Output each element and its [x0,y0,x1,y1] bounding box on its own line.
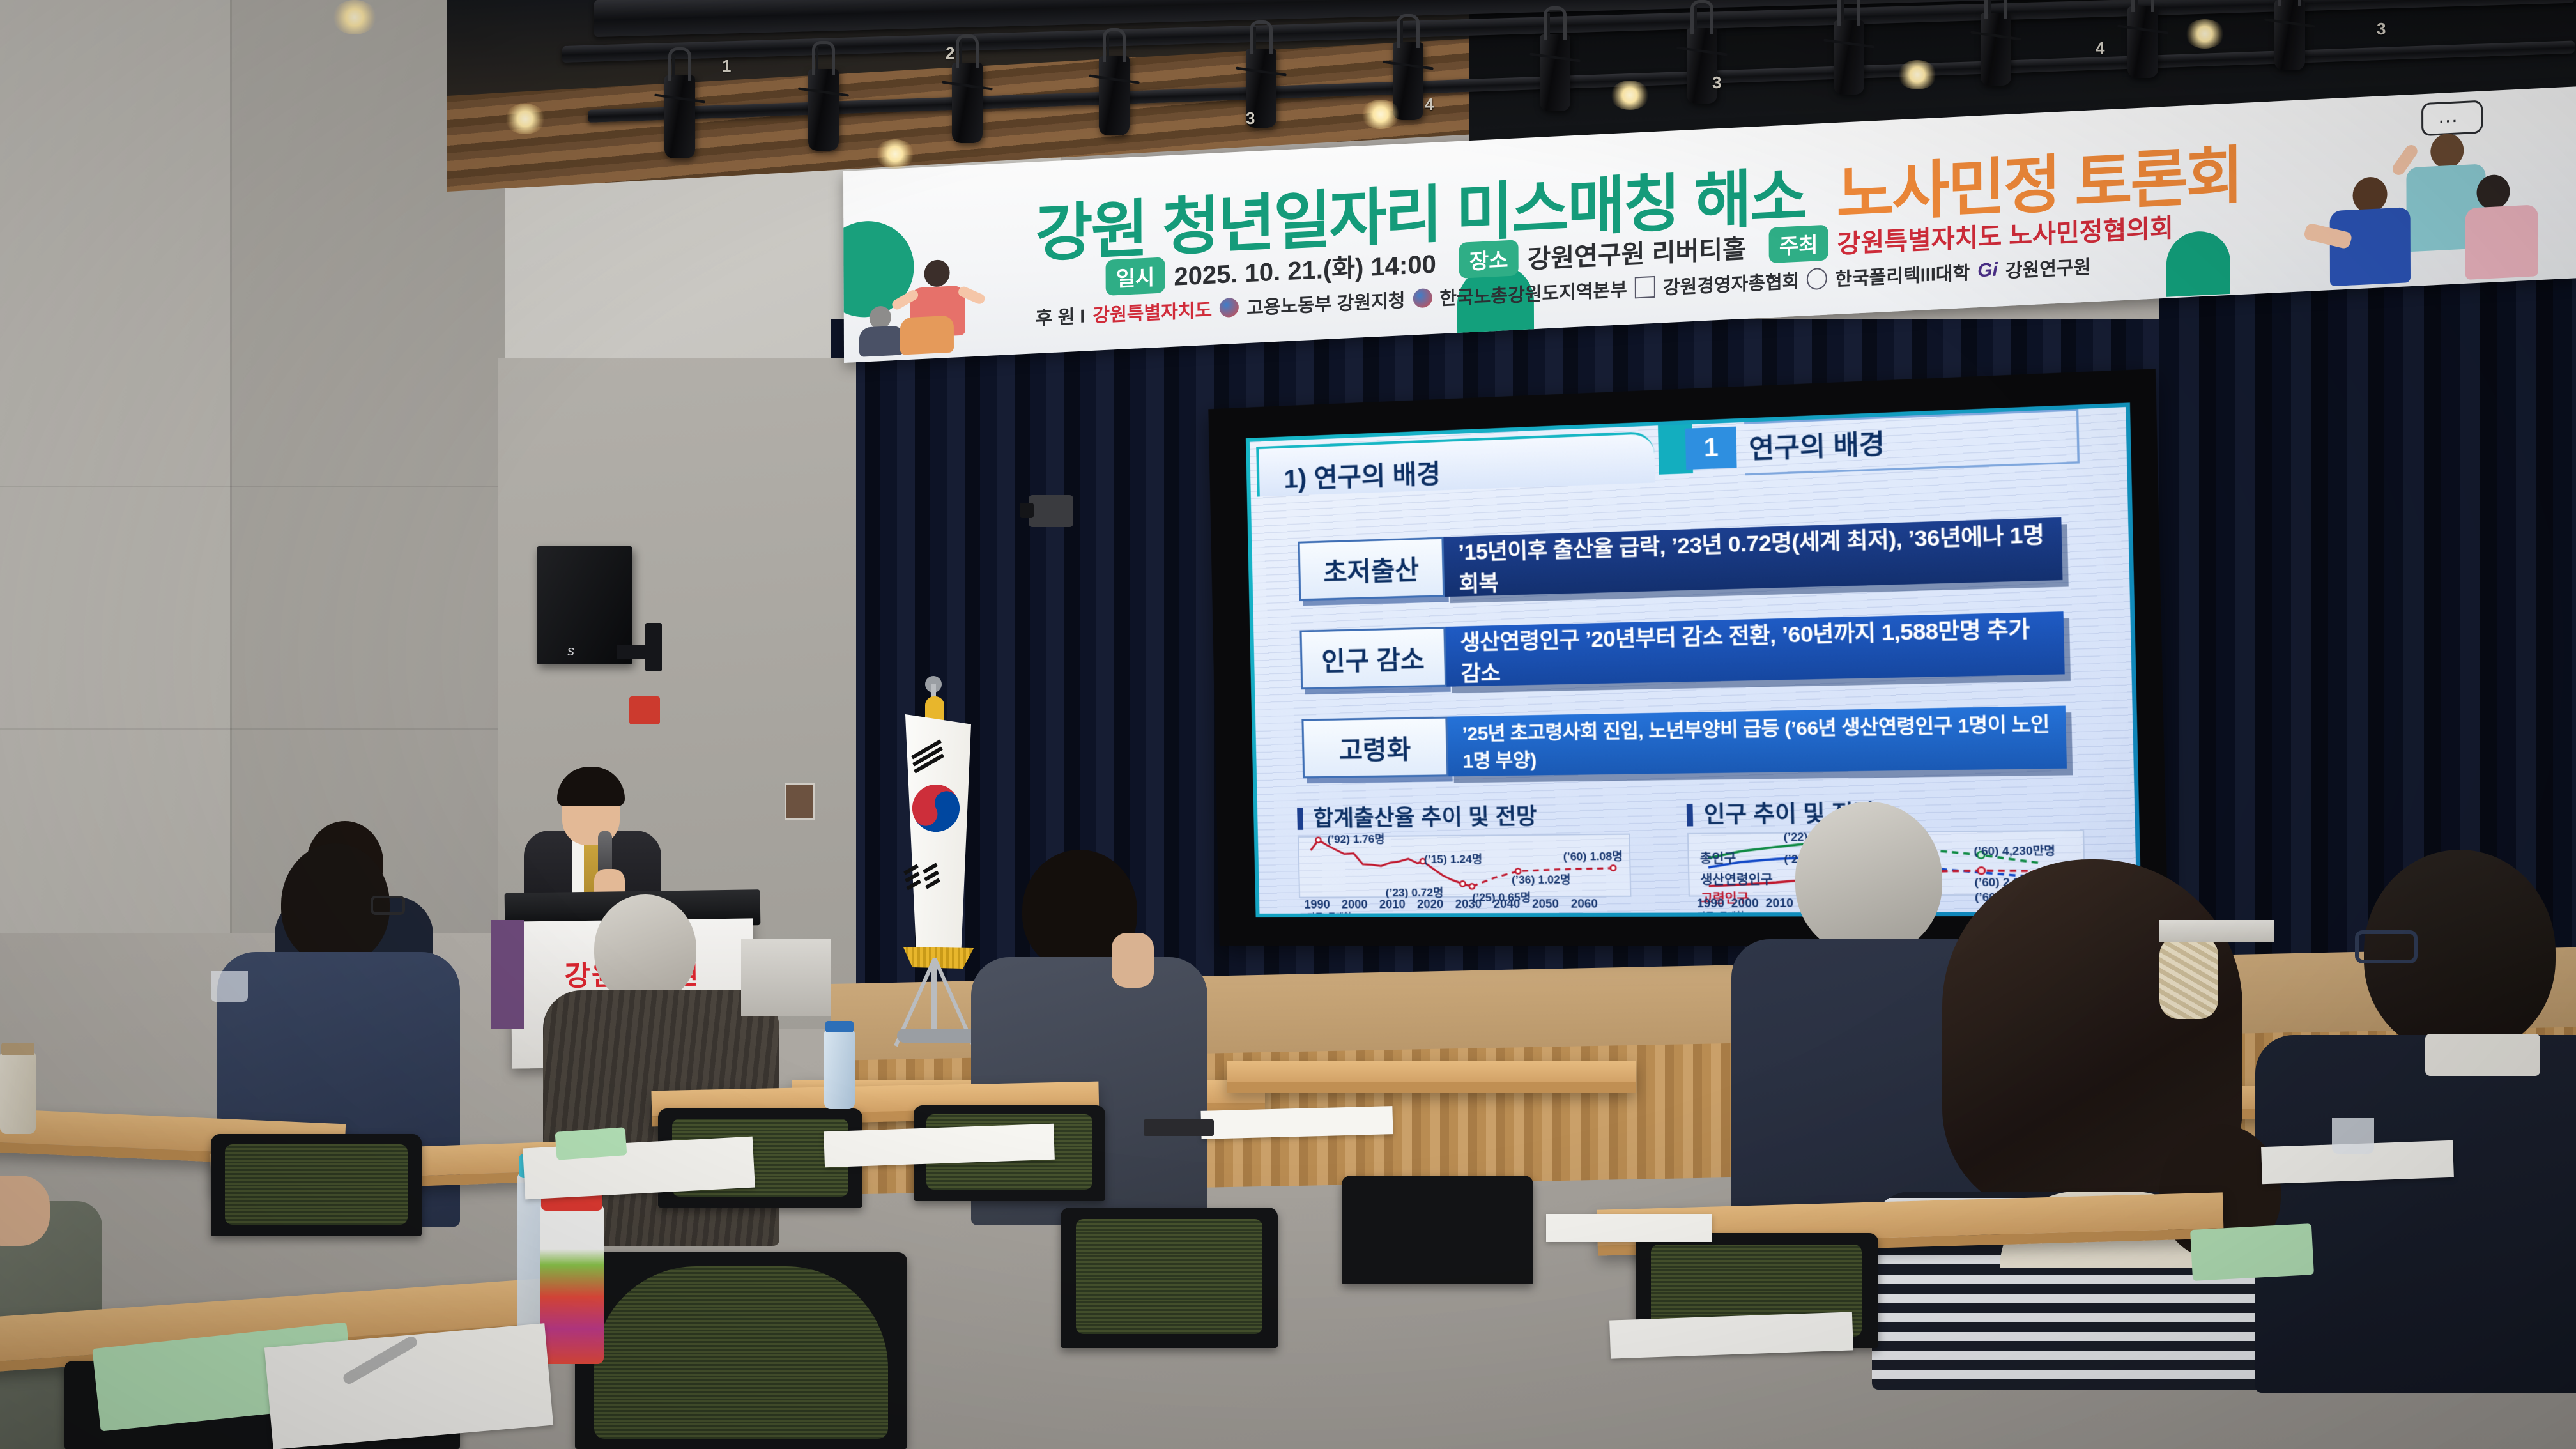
chart-xtick-tfr: 2010 [1379,898,1406,911]
audience-chair [575,1252,907,1449]
wall-seam [230,0,232,933]
ceiling-downlight [1361,100,1400,129]
truss-channel-number: 4 [1425,95,1434,114]
audience-chair [1061,1207,1278,1348]
truss-channel-number: 4 [2096,38,2104,58]
chart-annotation-tfr: (’36) 1.02명 [1512,870,1571,887]
sponsor-gangwon-institute: 강원연구원 [2005,252,2091,284]
eyeglasses-icon [371,896,405,915]
chart-title-tfr: 합계출산율 추이 및 전망 [1297,806,1537,830]
stage-spotlight [1540,34,1570,111]
wall-picture-frame [785,783,815,820]
ceiling-downlight [1897,60,1937,89]
sponsor-gangwon-province: 강원특별자치도 [1092,295,1212,328]
truss-channel-number: 3 [1246,109,1255,128]
banner-host-pill: 주최 [1769,225,1828,264]
chart-annotation-tfr: (’60) 1.08명 [1563,847,1623,863]
conference-hall-photo: 1 2 3 4 3 4 3 ··· [0,0,2576,1449]
hair-clip [2159,936,2218,1019]
speaker-mount-plate [645,623,662,671]
stage-spotlight [1099,56,1130,135]
sponsor-kef-gangwon: 강원경영자총협회 [1663,266,1800,300]
podium-purple-drape [491,920,524,1029]
disposable-cup [2332,1118,2374,1154]
wall-seam [0,486,505,487]
left-wall-lit-panel [0,0,230,933]
chart-annotation-tfr: (’92) 1.76명 [1327,830,1384,847]
slide-key-bar-tag: 고령화 [1301,717,1448,779]
wall-seam [0,728,505,730]
audience-chair [211,1134,422,1236]
truss-channel-number: 3 [2377,19,2386,39]
slide-key-bar: 초저출산 ’15년이후 출산율 급락, ’23년 0.72명(세계 최저), ’… [1298,517,2063,601]
truss-channel-number: 3 [1712,73,1721,93]
name-plate [1144,1119,1214,1136]
sponsor-polytech: 한국폴리텍III대학 [1835,258,1970,291]
handout-papers [1546,1214,1712,1242]
sponsor-moel-gangwon: 고용노동부 강원지청 [1246,286,1405,320]
fire-alarm-bell [629,696,660,724]
projection-screen: 1) 연구의 배경 1 연구의 배경 초저출산 ’15년이후 출산율 급락, ’… [1208,369,2168,946]
stage-spotlight [2127,6,2158,78]
chart-series-label-working: 생산연령인구 [1700,870,1773,888]
handout-papers [1200,1106,1393,1139]
screen-teal-border: 1) 연구의 배경 1 연구의 배경 초저출산 ’15년이후 출산율 급락, ’… [1246,402,2142,917]
slide-key-bar: 인구 감소 생산연령인구 ’20년부터 감소 전환, ’60년까지 1,588만… [1299,611,2064,689]
slide-key-bar-text: 생산연령인구 ’20년부터 감소 전환, ’60년까지 1,588만명 추가 감… [1445,611,2064,687]
beverage-bottle-juice [540,1204,604,1364]
truss-channel-number: 2 [946,43,954,63]
stage-spotlight [1834,20,1864,95]
slide-key-bar-tag: 인구 감소 [1299,627,1446,689]
fktu-logo-icon [1413,288,1432,308]
polytech-logo-icon [1807,268,1827,291]
stage-spotlight [1981,13,2011,86]
green-report-cover [555,1127,627,1160]
chart-xtick-tfr: 2030 [1455,898,1482,912]
presentation-slide: 1) 연구의 배경 1 연구의 배경 초저출산 ’15년이후 출산율 급락, ’… [1250,407,2137,914]
flag-trigram-gon [903,866,940,888]
stage-spotlight [2274,0,2305,70]
security-camera [1029,495,1073,527]
water-bottle [824,1029,855,1109]
chart-annotation-population: (’60) 4,230만명 [1974,841,2055,858]
ceiling-downlight [1610,80,1650,110]
slide-key-bar-text: ’15년이후 출산율 급락, ’23년 0.72명(세계 최저), ’36년에나… [1443,517,2062,597]
chart-xtick-tfr: 2060 [1571,897,1598,911]
chart-series-label-total: 총인구 [1700,848,1736,866]
flag-trigram-geon [910,746,944,765]
banner-place-pill: 장소 [1459,240,1519,279]
stage-step [2159,920,2274,942]
hand [0,1176,50,1246]
banner-illustration-right: ··· [2294,96,2563,287]
ceiling-downlight [875,139,915,169]
bottle-cap [1,1043,34,1055]
slide-section-header: 1 연구의 배경 [1685,409,2080,473]
green-report-cover [2190,1223,2314,1281]
water-bottle [0,1051,36,1134]
eyeglasses-icon [2355,930,2418,963]
audience-table [1227,1061,1636,1092]
banner-decor-arch [2166,230,2230,297]
audience-hand [1112,933,1154,988]
bottle-cap [825,1021,854,1032]
chart-annotation-tfr: (’15) 1.24명 [1424,850,1483,866]
slide-key-bar-text: ’25년 초고령사회 진입, 노년부양비 급등 (’66년 생산연령인구 1명이… [1447,706,2067,777]
truss-channel-number: 1 [722,56,731,76]
chart-xtick-tfr: 2020 [1417,898,1444,911]
ceiling-downlight [2185,19,2225,49]
disposable-cup [211,971,248,1002]
ceiling-downlight [332,0,377,34]
ceiling-downlight [505,103,546,134]
chart-xtick-tfr: 2050 [1532,897,1559,911]
stage-spotlight [664,75,695,158]
stage-monitor-rail [741,939,831,1016]
gi-logo-icon: Gi [1977,259,1998,282]
chart-source-population: * 자료: 통계청 [1692,908,1745,914]
shirt-collar [2425,1034,2540,1076]
banner-support-label: 후 원 I [1036,302,1085,331]
audience-chair [1342,1176,1533,1284]
slide-key-bar-tag: 초저출산 [1298,537,1445,601]
slide-subsection-tab: 1) 연구의 배경 [1256,431,1655,497]
banner-illustration-left [862,254,1016,357]
slide-section-number: 1 [1685,427,1737,470]
stage-spotlight [808,69,839,151]
chart-source-tfr-visible: * 자료: 통계청 [1302,910,1352,914]
slide-subsection-label: 1) 연구의 배경 [1284,452,1441,496]
kef-logo-icon [1635,276,1655,299]
chart-xtick-tfr: 2040 [1494,897,1521,911]
stage-spotlight [952,63,983,143]
slide-key-bar: 고령화 ’25년 초고령사회 진입, 노년부양비 급등 (’66년 생산연령인구… [1301,706,2067,779]
banner-date-pill: 일시 [1106,257,1165,296]
moel-logo-icon [1220,298,1239,318]
chart-xtick-population: 2010 [1765,896,1793,910]
